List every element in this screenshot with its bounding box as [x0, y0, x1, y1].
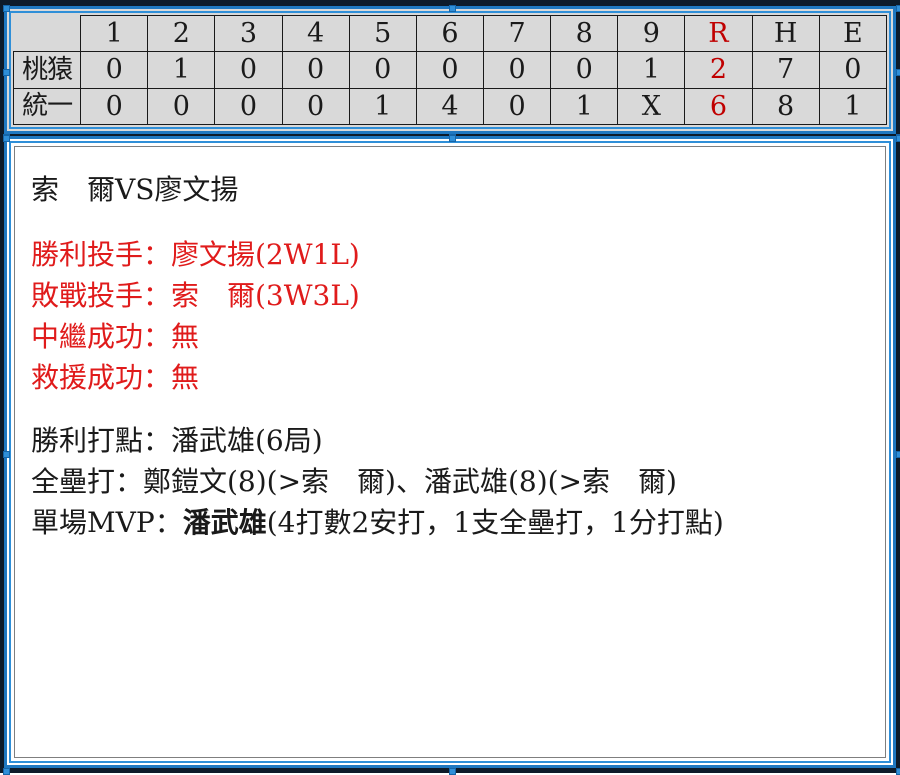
score-cell-home-9: X	[618, 88, 685, 124]
resize-handle-top-left[interactable]	[3, 5, 10, 12]
score-cell-home-8: 1	[551, 88, 618, 124]
header-cell-inning-8: 8	[551, 16, 618, 52]
header-cell-inning-1: 1	[81, 16, 148, 52]
resize-handle-middle-right[interactable]	[896, 69, 900, 76]
score-cell-away-4: 0	[282, 52, 349, 88]
header-cell-inning-4: 4	[282, 16, 349, 52]
linescore-selection-frame[interactable]: 1 2 3 4 5 6 7 8 9 R H E 桃猿	[4, 6, 896, 134]
score-cell-home-errors: 1	[819, 88, 886, 124]
header-cell-inning-7: 7	[483, 16, 550, 52]
score-cell-home-1: 0	[81, 88, 148, 124]
home-runs-line: 全壘打：鄭鎧文(8)(>索 爾)、潘武雄(8)(>索 爾)	[31, 461, 869, 502]
resize-handle-top-center[interactable]	[449, 5, 456, 12]
table-row-header: 1 2 3 4 5 6 7 8 9 R H E	[14, 16, 887, 52]
notes-resize-handle-top-right[interactable]	[896, 135, 900, 142]
score-cell-away-5: 0	[349, 52, 416, 88]
team-name-home: 統一	[14, 88, 81, 124]
resize-handle-middle-left[interactable]	[3, 69, 10, 76]
score-cell-away-runs: 2	[685, 52, 752, 88]
slide-canvas: 1 2 3 4 5 6 7 8 9 R H E 桃猿	[0, 0, 900, 773]
header-cell-inning-2: 2	[148, 16, 215, 52]
score-cell-away-1: 0	[81, 52, 148, 88]
game-notes-selection-frame[interactable]: 索 爾VS廖文揚 勝利投手：廖文揚(2W1L) 敗戰投手：索 爾(3W3L) 中…	[4, 136, 896, 768]
header-cell-inning-6: 6	[416, 16, 483, 52]
notes-resize-handle-bottom-left[interactable]	[3, 768, 10, 775]
notes-resize-handle-bottom-center[interactable]	[449, 768, 456, 775]
header-cell-corner	[14, 16, 81, 52]
mvp-line: 單場MVP：潘武雄(4打數2安打，1支全壘打，1分打點)	[31, 502, 869, 543]
winning-rbi-line: 勝利打點：潘武雄(6局)	[31, 420, 869, 461]
header-cell-runs: R	[685, 16, 752, 52]
game-notes-inner-border: 索 爾VS廖文揚 勝利投手：廖文揚(2W1L) 敗戰投手：索 爾(3W3L) 中…	[9, 141, 891, 763]
notes-resize-handle-middle-right[interactable]	[896, 451, 900, 458]
winning-pitcher-line: 勝利投手：廖文揚(2W1L)	[31, 234, 869, 275]
header-cell-hits: H	[752, 16, 819, 52]
score-cell-away-7: 0	[483, 52, 550, 88]
notes-resize-handle-bottom-right[interactable]	[896, 768, 900, 775]
save-line: 救援成功：無	[31, 357, 869, 398]
score-cell-away-9: 1	[618, 52, 685, 88]
score-cell-home-runs: 6	[685, 88, 752, 124]
score-cell-home-2: 0	[148, 88, 215, 124]
header-cell-errors: E	[819, 16, 886, 52]
score-cell-away-hits: 7	[752, 52, 819, 88]
header-cell-inning-5: 5	[349, 16, 416, 52]
score-cell-home-5: 1	[349, 88, 416, 124]
spacer-after-pitching	[31, 398, 869, 420]
score-cell-home-6: 4	[416, 88, 483, 124]
header-cell-inning-9: 9	[618, 16, 685, 52]
linescore-table[interactable]: 1 2 3 4 5 6 7 8 9 R H E 桃猿	[13, 15, 887, 125]
score-cell-home-7: 0	[483, 88, 550, 124]
mvp-stats: (4打數2安打，1支全壘打，1分打點)	[267, 506, 724, 539]
mvp-label: 單場MVP：	[31, 506, 183, 539]
losing-pitcher-line: 敗戰投手：索 爾(3W3L)	[31, 275, 869, 316]
score-cell-home-4: 0	[282, 88, 349, 124]
score-cell-away-8: 0	[551, 52, 618, 88]
mvp-player-name: 潘武雄	[183, 506, 267, 539]
game-notes-textbox[interactable]: 索 爾VS廖文揚 勝利投手：廖文揚(2W1L) 敗戰投手：索 爾(3W3L) 中…	[14, 146, 886, 758]
score-cell-away-errors: 0	[819, 52, 886, 88]
notes-resize-handle-middle-left[interactable]	[3, 451, 10, 458]
pitcher-matchup-line: 索 爾VS廖文揚	[31, 169, 869, 210]
resize-handle-top-right[interactable]	[896, 5, 900, 12]
notes-resize-handle-top-left[interactable]	[3, 135, 10, 142]
table-row: 桃猿 0 1 0 0 0 0 0 0 1 2 7 0	[14, 52, 887, 88]
spacer-after-matchup	[31, 210, 869, 234]
score-cell-away-2: 1	[148, 52, 215, 88]
header-cell-inning-3: 3	[215, 16, 282, 52]
score-cell-home-hits: 8	[752, 88, 819, 124]
team-name-away: 桃猿	[14, 52, 81, 88]
score-cell-away-3: 0	[215, 52, 282, 88]
score-cell-home-3: 0	[215, 88, 282, 124]
hold-line: 中繼成功：無	[31, 316, 869, 357]
linescore-inner-border: 1 2 3 4 5 6 7 8 9 R H E 桃猿	[9, 11, 891, 129]
notes-resize-handle-top-center[interactable]	[449, 135, 456, 142]
score-cell-away-6: 0	[416, 52, 483, 88]
table-row: 統一 0 0 0 0 1 4 0 1 X 6 8 1	[14, 88, 887, 124]
